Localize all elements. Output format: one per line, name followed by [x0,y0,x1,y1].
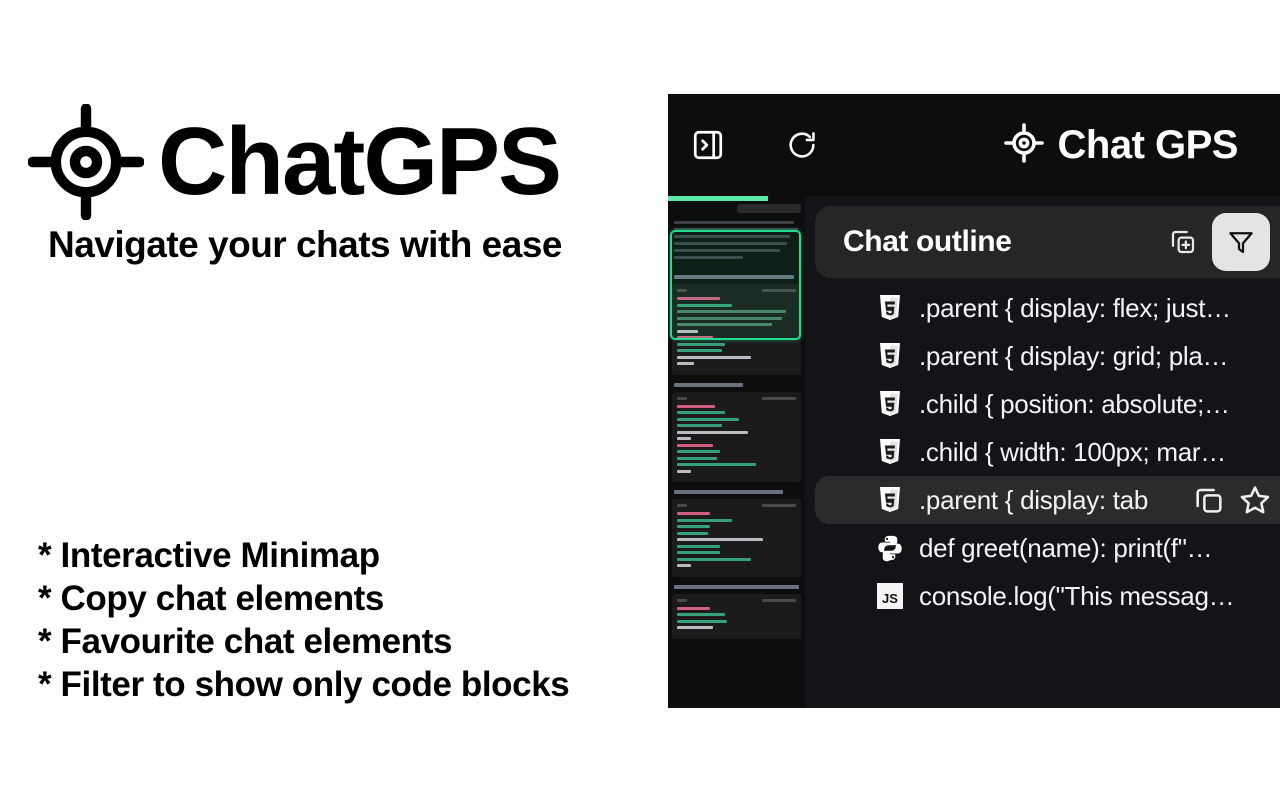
js-badge-label: JS [877,583,903,609]
css3-icon [875,485,905,515]
copy-all-icon[interactable] [1160,219,1206,265]
minimap-heading [674,275,794,279]
crosshair-target-icon [28,104,144,220]
brand-name: ChatGPS [158,114,560,210]
feature-item: * Favourite chat elements [38,620,569,663]
outline-list: .parent { display: flex; just… .parent {… [805,284,1280,620]
panel-header: Chat GPS [668,94,1280,196]
feature-item: * Copy chat elements [38,577,569,620]
outline-row[interactable]: .parent { display: grid; pla… [815,332,1280,380]
feature-item: * Interactive Minimap [38,534,569,577]
outline-row-label: .parent { display: tab [919,485,1148,516]
outline-row[interactable]: .child { width: 100px; mar… [815,428,1280,476]
panel-body: Chat outline [668,196,1280,708]
panel-title: Chat GPS [1058,123,1238,168]
outline-toolbar: Chat outline [815,206,1280,278]
outline-row[interactable]: .parent { display: flex; just… [815,284,1280,332]
minimap-code-block [672,594,801,639]
page-root: ChatGPS Navigate your chats with ease * … [0,0,1280,800]
minimap-code-block [672,284,801,375]
brand-row: ChatGPS [28,104,560,220]
minimap-heading [674,490,783,494]
refresh-icon[interactable] [780,123,824,167]
outline-row[interactable]: JS console.log("This messag… [815,572,1280,620]
chatgps-extension-panel: Chat GPS [668,94,1280,708]
outline-row[interactable]: .child { position: absolute;… [815,380,1280,428]
outline-title: Chat outline [843,225,1012,259]
css3-icon [875,389,905,419]
chat-outline-pane: Chat outline [805,196,1280,708]
outline-row[interactable]: .parent { display: tab [815,476,1280,524]
tagline: Navigate your chats with ease [48,224,562,266]
minimap-content [668,196,805,646]
promo-section: ChatGPS Navigate your chats with ease * … [0,0,668,800]
feature-item: * Filter to show only code blocks [38,663,569,706]
outline-row-label: .child { position: absolute;… [919,389,1230,420]
python-icon [875,533,905,563]
chat-minimap[interactable] [668,196,805,708]
minimap-paragraph [670,219,803,267]
javascript-icon: JS [875,581,905,611]
css3-icon [875,341,905,371]
minimap-heading [674,585,799,589]
filter-funnel-icon[interactable] [1212,213,1270,271]
minimap-user-message [737,204,801,213]
star-outline-icon[interactable] [1238,483,1272,517]
minimap-heading [674,383,743,387]
outline-row-label: .parent { display: flex; just… [919,293,1231,324]
outline-row-label: .child { width: 100px; mar… [919,437,1226,468]
outline-row-actions [1192,476,1272,524]
outline-row-label: console.log("This messag… [919,581,1234,612]
outline-row-label: def greet(name): print(f"… [919,533,1212,564]
outline-row-label: .parent { display: grid; pla… [919,341,1228,372]
panel-collapse-right-icon[interactable] [686,123,730,167]
panel-title-group: Chat GPS [1004,123,1262,168]
minimap-code-block [672,392,801,483]
feature-list: * Interactive Minimap * Copy chat elemen… [38,534,569,706]
minimap-code-block [672,499,801,577]
outline-row[interactable]: def greet(name): print(f"… [815,524,1280,572]
crosshair-target-icon [1004,123,1044,168]
css3-icon [875,293,905,323]
toolbar-actions [1160,213,1280,271]
copy-icon[interactable] [1192,483,1226,517]
css3-icon [875,437,905,467]
minimap-progress-bar [668,196,768,201]
